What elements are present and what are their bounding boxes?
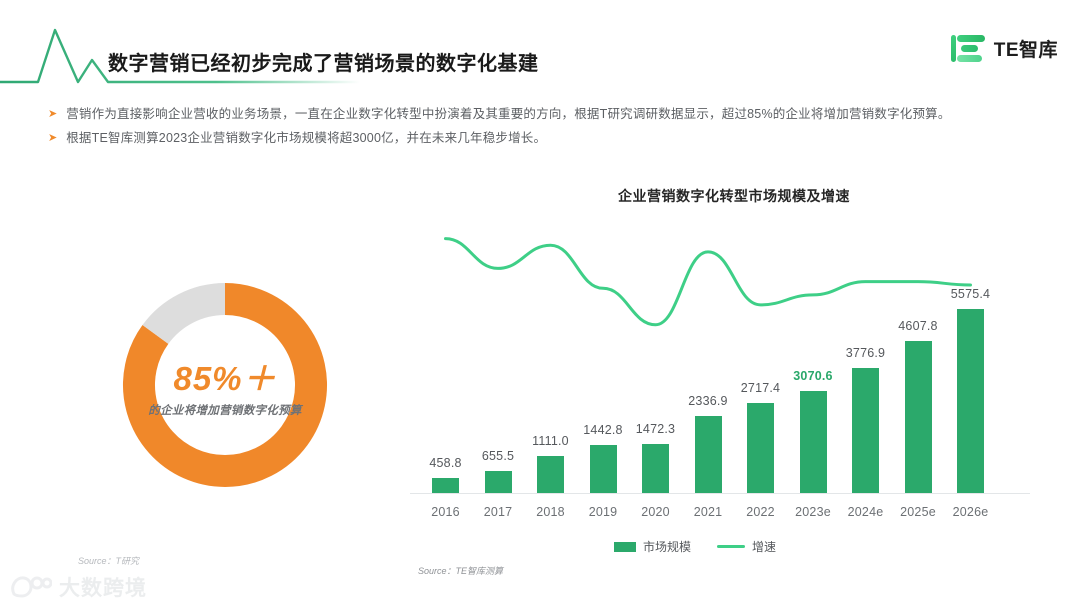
arrow-icon: ➤ <box>48 106 57 123</box>
bar-2021[interactable] <box>695 416 722 493</box>
donut-caption: 的企业将增加营销数字化预算 <box>148 402 301 418</box>
donut-source: Source：T研究 <box>78 554 139 567</box>
bar-2024e[interactable] <box>852 368 879 493</box>
x-tick-2025e: 2025e <box>888 505 948 519</box>
list-item: ➤ 根据TE智库测算2023企业营销数字化市场规模将超3000亿，并在未来几年稳… <box>48 130 1058 147</box>
market-size-chart: 458.8655.51111.01442.81472.32336.92717.4… <box>410 210 1030 500</box>
x-tick-2026e: 2026e <box>941 505 1001 519</box>
x-tick-2023e: 2023e <box>783 505 843 519</box>
bar-2018[interactable] <box>537 456 564 493</box>
watermark: 大数跨境 <box>10 572 147 602</box>
bar-value-label: 2717.4 <box>733 381 788 395</box>
bar-2016[interactable] <box>432 478 459 493</box>
bullet-text: 根据TE智库测算2023企业营销数字化市场规模将超3000亿，并在未来几年稳步增… <box>66 130 546 147</box>
logo-label: TE智库 <box>994 35 1058 62</box>
watermark-text: 大数跨境 <box>59 572 147 602</box>
bar-2019[interactable] <box>590 445 617 493</box>
x-tick-2018: 2018 <box>521 505 581 519</box>
x-tick-2022: 2022 <box>731 505 791 519</box>
brand-logo: TE智库 <box>951 31 1058 65</box>
chart-title: 企业营销数字化转型市场规模及增速 <box>618 186 850 206</box>
donut-center-label: 85%＋ 的企业将增加营销数字化预算 <box>120 280 330 490</box>
bar-swatch-icon <box>614 542 636 552</box>
bar-value-label: 1472.3 <box>628 422 683 436</box>
donut-chart: 85%＋ 的企业将增加营销数字化预算 <box>120 280 330 490</box>
watermark-icon <box>10 574 52 600</box>
list-item: ➤ 营销作为直接影响企业营收的业务场景，一直在企业数字化转型中扮演着及其重要的方… <box>48 106 1058 123</box>
slide-root: 数字营销已经初步完成了营销场景的数字化基建 TE智库 ➤ 营销作为直接影响企业营… <box>0 0 1080 608</box>
donut-value: 85%＋ <box>173 352 276 400</box>
bar-value-label: 655.5 <box>471 449 526 463</box>
x-tick-2020: 2020 <box>626 505 686 519</box>
x-tick-2021: 2021 <box>678 505 738 519</box>
bar-value-label: 3776.9 <box>838 346 893 360</box>
bar-value-label: 4607.8 <box>891 319 946 333</box>
bar-value-label: 458.8 <box>418 456 473 470</box>
bar-2026e[interactable] <box>957 309 984 493</box>
chart-legend: 市场规模 增速 <box>614 538 776 555</box>
arrow-icon: ➤ <box>48 130 57 147</box>
bar-2025e[interactable] <box>905 341 932 493</box>
legend-label: 增速 <box>752 538 776 555</box>
bar-value-label: 3070.6 <box>786 369 841 383</box>
bar-2020[interactable] <box>642 444 669 493</box>
bar-2023e[interactable] <box>800 391 827 493</box>
x-tick-2016: 2016 <box>416 505 476 519</box>
legend-item-bar[interactable]: 市场规模 <box>614 538 691 555</box>
bar-value-label: 1442.8 <box>576 423 631 437</box>
legend-item-line[interactable]: 增速 <box>717 538 776 555</box>
bar-2017[interactable] <box>485 471 512 493</box>
bullet-text: 营销作为直接影响企业营收的业务场景，一直在企业数字化转型中扮演着及其重要的方向，… <box>66 106 950 123</box>
line-swatch-icon <box>717 545 745 548</box>
x-tick-2017: 2017 <box>468 505 528 519</box>
bar-2022[interactable] <box>747 403 774 493</box>
bullet-list: ➤ 营销作为直接影响企业营收的业务场景，一直在企业数字化转型中扮演着及其重要的方… <box>48 106 1058 154</box>
chart-source: Source：TE智库测算 <box>418 564 503 577</box>
x-axis-line <box>410 493 1030 494</box>
growth-rate-line <box>446 239 971 325</box>
bar-value-label: 2336.9 <box>681 394 736 408</box>
x-tick-2024e: 2024e <box>836 505 896 519</box>
legend-label: 市场规模 <box>643 538 691 555</box>
bar-value-label: 1111.0 <box>523 434 578 448</box>
x-tick-2019: 2019 <box>573 505 633 519</box>
bar-value-label: 5575.4 <box>943 287 998 301</box>
te-logo-icon <box>951 31 985 65</box>
page-title: 数字营销已经初步完成了营销场景的数字化基建 <box>108 47 539 76</box>
